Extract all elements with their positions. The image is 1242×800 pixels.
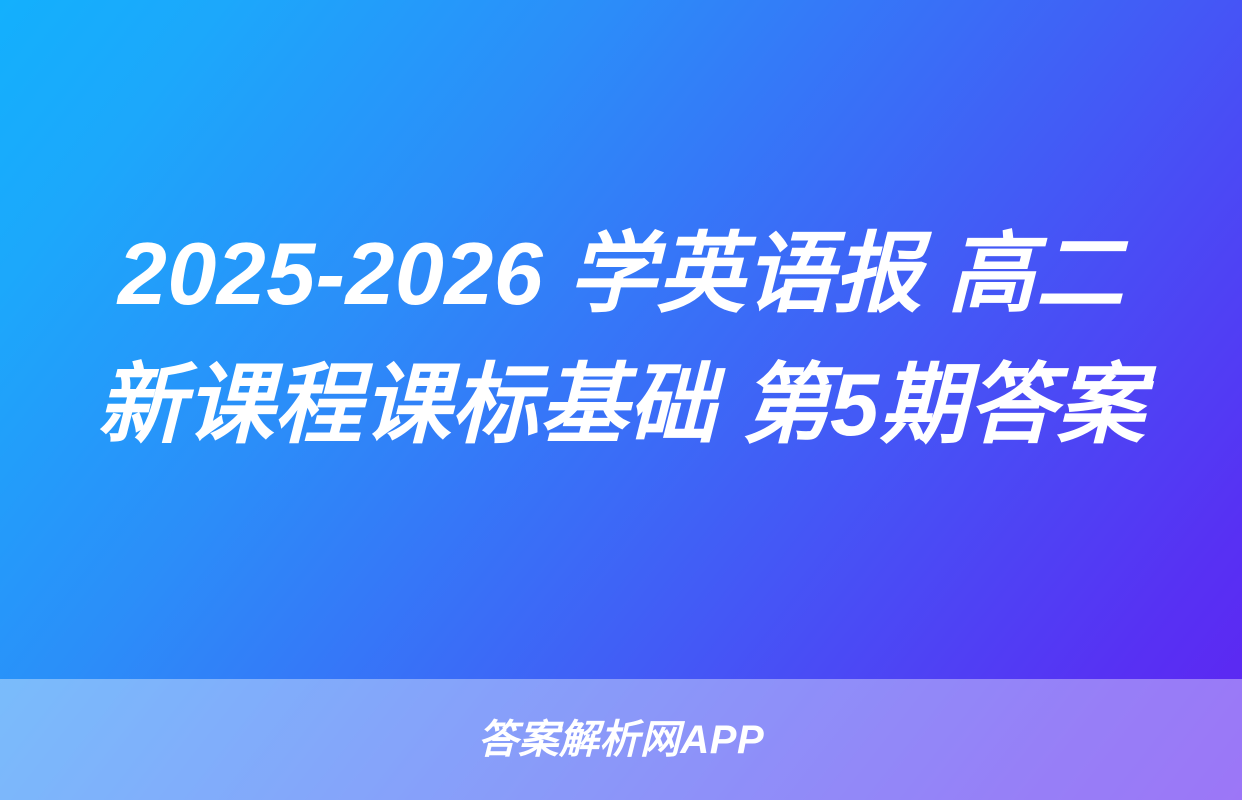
app-brand-label: 答案解析网APP [478, 720, 764, 760]
footer-brand-band: 答案解析网APP [0, 679, 1242, 800]
answer-poster-card: 2025-2026 学英语报 高二 新课程课标基础 第5期答案 答案解析网APP [0, 0, 1242, 800]
page-title: 2025-2026 学英语报 高二 新课程课标基础 第5期答案 [66, 209, 1176, 469]
title-area: 2025-2026 学英语报 高二 新课程课标基础 第5期答案 [0, 0, 1242, 679]
